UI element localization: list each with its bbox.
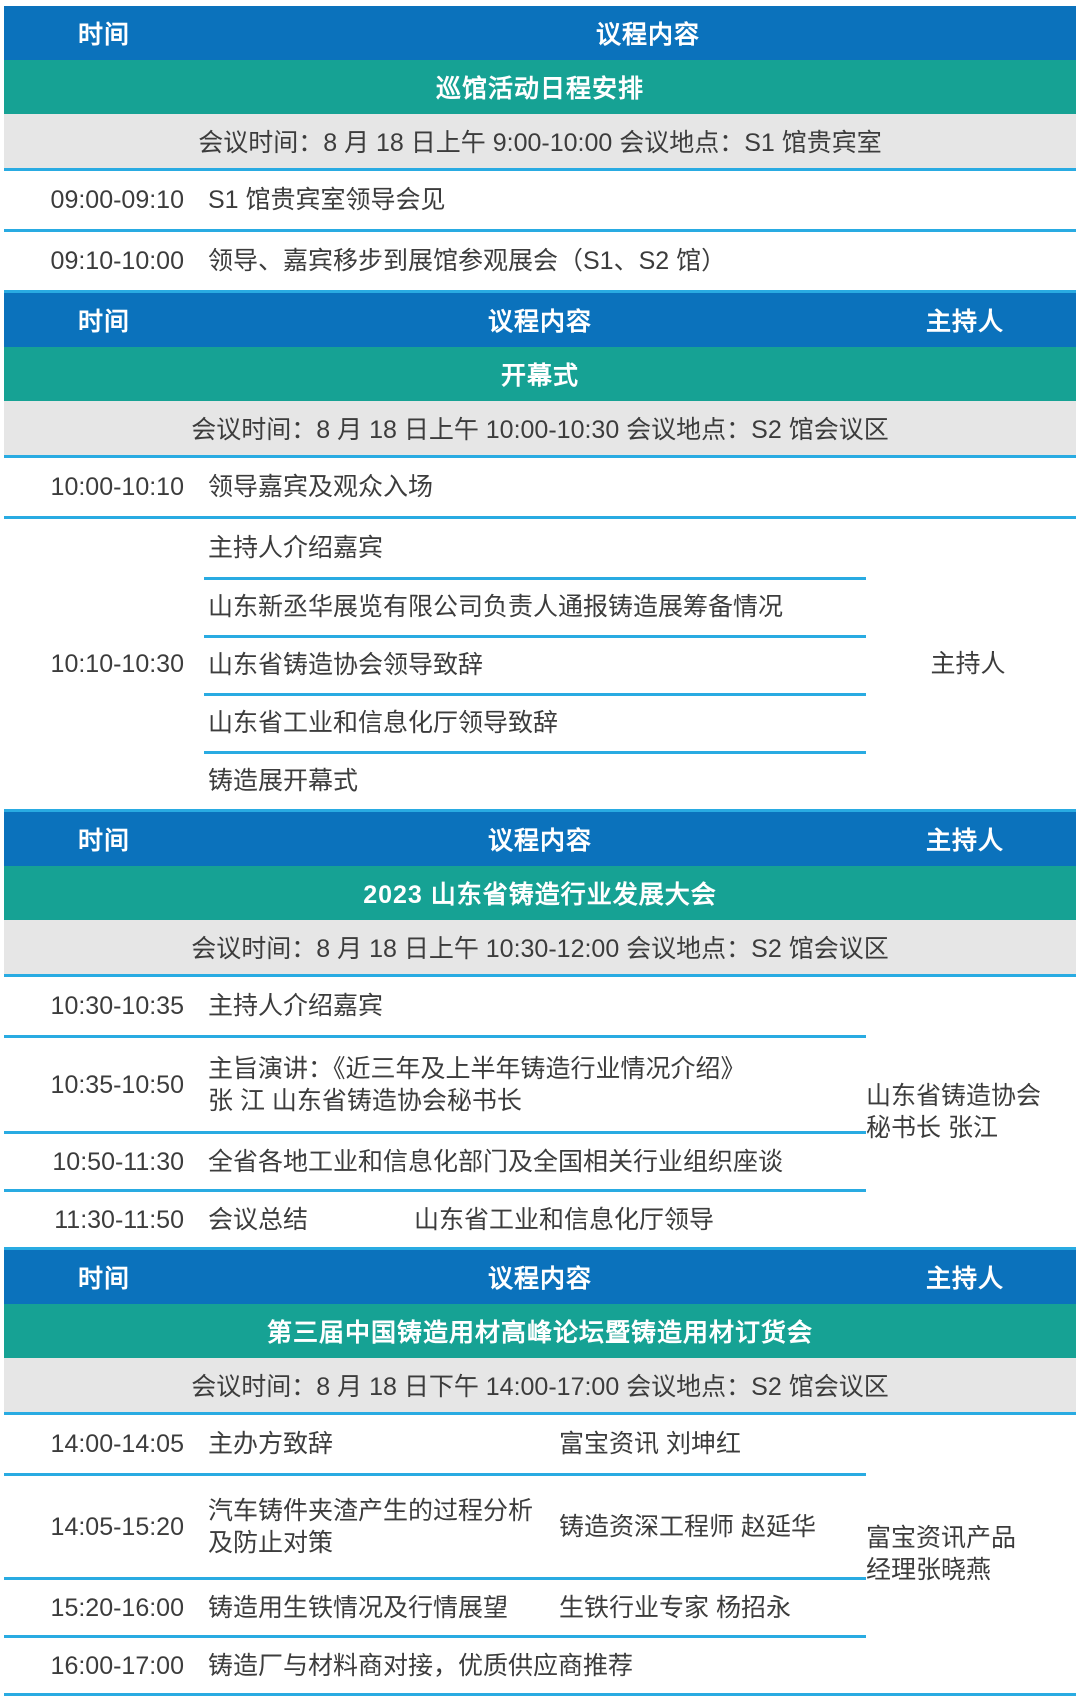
table-row: 14:00-14:05 主办方致辞 富宝资讯 刘坤红: [4, 1415, 866, 1473]
table-row: 10:35-10:50 主旨演讲：《近三年及上半年铸造行业情况介绍》 张 江 山…: [4, 1035, 866, 1131]
section-2: 时间 议程内容 主持人 开幕式 会议时间：8 月 18 日上午 10:00-10…: [4, 293, 1076, 812]
column-header-host: 主持人: [860, 1259, 1076, 1295]
row-topic: 主办方致辞: [208, 1428, 559, 1460]
section-rows: 14:00-14:05 主办方致辞 富宝资讯 刘坤红 14:05-15:20 汽…: [4, 1415, 1076, 1696]
meeting-info: 会议时间：8 月 18 日上午 10:30-12:00 会议地点：S2 馆会议区: [4, 920, 1076, 977]
row-topic: 铸造用生铁情况及行情展望: [208, 1592, 559, 1624]
table-row: 16:00-17:00 铸造厂与材料商对接，优质供应商推荐: [4, 1635, 866, 1693]
row-host-group: 山东省铸造协会 秘书长 张江: [866, 977, 1076, 1247]
row-speaker: 富宝资讯 刘坤红: [559, 1428, 858, 1460]
column-header-row: 时间 议程内容: [4, 6, 1076, 60]
column-header-agenda: 议程内容: [224, 15, 1076, 51]
section-rows: 10:00-10:10 领导嘉宾及观众入场 10:10-10:30 主持人介绍嘉…: [4, 458, 1076, 812]
meeting-info: 会议时间：8 月 18 日下午 14:00-17:00 会议地点：S2 馆会议区: [4, 1358, 1076, 1415]
row-time: 15:20-16:00: [4, 1592, 204, 1624]
table-row: 15:20-16:00 铸造用生铁情况及行情展望 生铁行业专家 杨招永: [4, 1577, 866, 1635]
agenda-sheet: 时间 议程内容 巡馆活动日程安排 会议时间：8 月 18 日上午 9:00-10…: [0, 0, 1080, 1696]
row-agenda: S1 馆贵宾室领导会见: [204, 171, 1076, 229]
row-time: 10:00-10:10: [4, 458, 204, 516]
row-agenda: 领导嘉宾及观众入场: [204, 458, 866, 516]
column-header-time: 时间: [4, 1259, 224, 1295]
list-item: 山东省工业和信息化厅领导致辞: [204, 693, 866, 751]
row-time: 09:00-09:10: [4, 171, 204, 229]
column-header-time: 时间: [4, 15, 224, 51]
table-row: 14:05-15:20 汽车铸件夹渣产生的过程分析 及防止对策 铸造资深工程师 …: [4, 1473, 866, 1577]
row-time: 11:30-11:50: [4, 1204, 204, 1236]
list-item: 山东省铸造协会领导致辞: [204, 635, 866, 693]
row-speaker: 生铁行业专家 杨招永: [559, 1592, 858, 1624]
column-header-row: 时间 议程内容 主持人: [4, 812, 1076, 866]
row-time: 14:00-14:05: [4, 1428, 204, 1460]
table-row: 10:30-10:35 主持人介绍嘉宾: [4, 977, 866, 1035]
row-agenda: 主办方致辞 富宝资讯 刘坤红: [204, 1428, 866, 1460]
section-title: 巡馆活动日程安排: [4, 60, 1076, 114]
section-rows: 09:00-09:10 S1 馆贵宾室领导会见 09:10-10:00 领导、嘉…: [4, 171, 1076, 293]
row-host-group: 富宝资讯产品 经理张晓燕: [866, 1415, 1076, 1693]
row-topic: 汽车铸件夹渣产生的过程分析 及防止对策: [208, 1495, 559, 1559]
row-time: 10:35-10:50: [4, 1069, 204, 1101]
section-title: 第三届中国铸造用材高峰论坛暨铸造用材订货会: [4, 1304, 1076, 1358]
column-header-host: 主持人: [860, 821, 1076, 857]
column-header-agenda: 议程内容: [224, 302, 860, 338]
table-row: 10:50-11:30 全省各地工业和信息化部门及全国相关行业组织座谈: [4, 1131, 866, 1189]
row-time: 14:05-15:20: [4, 1511, 204, 1543]
list-item: 山东新丞华展览有限公司负责人通报铸造展筹备情况: [204, 577, 866, 635]
meeting-info: 会议时间：8 月 18 日上午 9:00-10:00 会议地点：S1 馆贵宾室: [4, 114, 1076, 171]
meeting-info: 会议时间：8 月 18 日上午 10:00-10:30 会议地点：S2 馆会议区: [4, 401, 1076, 458]
column-header-agenda: 议程内容: [224, 821, 860, 857]
column-header-time: 时间: [4, 302, 224, 338]
section-rows: 10:30-10:35 主持人介绍嘉宾 10:35-10:50 主旨演讲：《近三…: [4, 977, 1076, 1250]
row-agenda: 全省各地工业和信息化部门及全国相关行业组织座谈: [204, 1146, 866, 1178]
row-time: 10:30-10:35: [4, 990, 204, 1022]
table-row: 11:30-11:50 会议总结 山东省工业和信息化厅领导: [4, 1189, 866, 1247]
section-1: 时间 议程内容 巡馆活动日程安排 会议时间：8 月 18 日上午 9:00-10…: [4, 6, 1076, 293]
row-time: 16:00-17:00: [4, 1650, 204, 1682]
table-row: 09:00-09:10 S1 馆贵宾室领导会见: [4, 171, 1076, 229]
row-time: 10:50-11:30: [4, 1146, 204, 1178]
column-header-row: 时间 议程内容 主持人: [4, 1250, 1076, 1304]
section-4: 时间 议程内容 主持人 第三届中国铸造用材高峰论坛暨铸造用材订货会 会议时间：8…: [4, 1250, 1076, 1696]
section-title: 开幕式: [4, 347, 1076, 401]
column-header-agenda: 议程内容: [224, 1259, 860, 1295]
table-row-group: 10:10-10:30 主持人介绍嘉宾 山东新丞华展览有限公司负责人通报铸造展筹…: [4, 516, 1076, 809]
row-time: 10:10-10:30: [4, 519, 204, 809]
row-agenda-list: 主持人介绍嘉宾 山东新丞华展览有限公司负责人通报铸造展筹备情况 山东省铸造协会领…: [204, 519, 866, 809]
row-agenda: 领导、嘉宾移步到展馆参观展会（S1、S2 馆）: [204, 232, 1076, 290]
section-3: 时间 议程内容 主持人 2023 山东省铸造行业发展大会 会议时间：8 月 18…: [4, 812, 1076, 1250]
column-header-time: 时间: [4, 821, 224, 857]
row-host: 主持人: [866, 519, 1076, 809]
row-stack: 14:00-14:05 主办方致辞 富宝资讯 刘坤红 14:05-15:20 汽…: [4, 1415, 866, 1693]
list-item: 铸造展开幕式: [204, 751, 866, 809]
row-speaker: 铸造资深工程师 赵延华: [559, 1511, 858, 1543]
row-topic: 会议总结: [208, 1204, 414, 1236]
row-agenda: 铸造厂与材料商对接，优质供应商推荐: [204, 1650, 866, 1682]
row-host: [866, 458, 1076, 516]
row-speaker: 山东省工业和信息化厅领导: [414, 1204, 858, 1236]
row-time: 09:10-10:00: [4, 232, 204, 290]
list-item: 主持人介绍嘉宾: [204, 519, 866, 577]
table-row: 10:00-10:10 领导嘉宾及观众入场: [4, 458, 1076, 516]
row-agenda: 铸造用生铁情况及行情展望 生铁行业专家 杨招永: [204, 1592, 866, 1624]
row-agenda: 会议总结 山东省工业和信息化厅领导: [204, 1204, 866, 1236]
row-stack: 10:30-10:35 主持人介绍嘉宾 10:35-10:50 主旨演讲：《近三…: [4, 977, 866, 1247]
section-title: 2023 山东省铸造行业发展大会: [4, 866, 1076, 920]
row-agenda: 汽车铸件夹渣产生的过程分析 及防止对策 铸造资深工程师 赵延华: [204, 1495, 866, 1559]
table-row: 09:10-10:00 领导、嘉宾移步到展馆参观展会（S1、S2 馆）: [4, 229, 1076, 290]
row-agenda: 主旨演讲：《近三年及上半年铸造行业情况介绍》 张 江 山东省铸造协会秘书长: [204, 1053, 866, 1117]
column-header-row: 时间 议程内容 主持人: [4, 293, 1076, 347]
column-header-host: 主持人: [860, 302, 1076, 338]
row-agenda: 主持人介绍嘉宾: [204, 990, 866, 1022]
